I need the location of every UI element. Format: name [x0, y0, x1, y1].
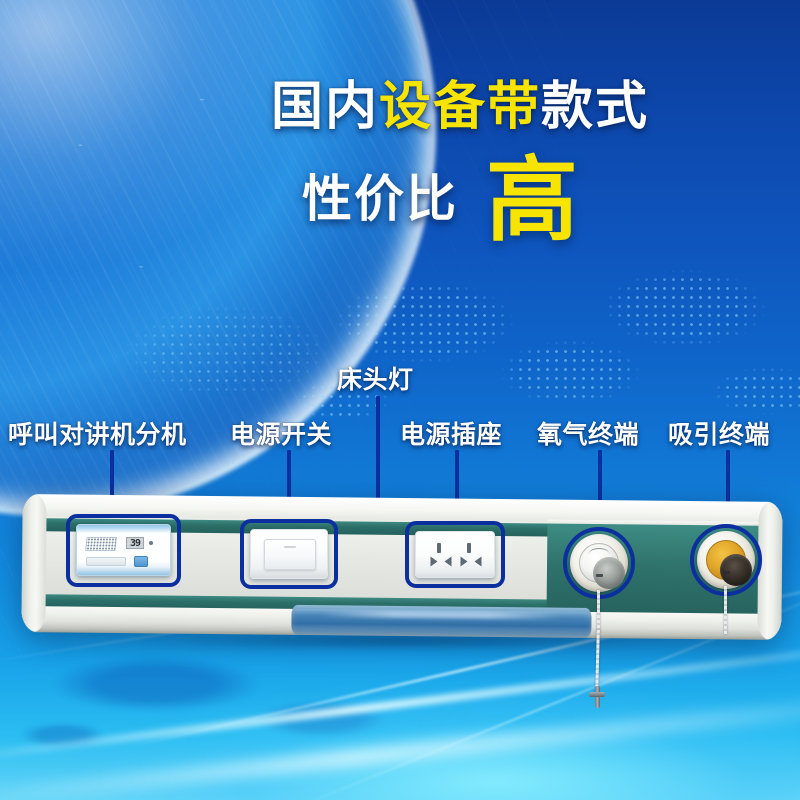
callout-label-socket: 电源插座 [400, 415, 502, 451]
pull-cord-handle[interactable] [589, 686, 605, 708]
annotation-box-power-switch [240, 519, 338, 589]
annotation-box-intercom [66, 514, 181, 587]
annotation-box-socket [405, 521, 505, 588]
annotation-ring-oxygen [563, 527, 635, 599]
panel-end-cap-right [757, 502, 782, 640]
callout-label-suction: 吸引终端 [668, 415, 770, 451]
callout-label-intercom: 呼叫对讲机分机 [8, 415, 187, 451]
callout-label-bed-lamp: 床头灯 [337, 360, 414, 396]
callout-label-power-switch: 电源开关 [230, 415, 332, 451]
banner-canvas: 国内设备带款式 性价比 高 呼叫对讲机分机 电源开关 床头灯 电源插座 氧气终端… [0, 0, 800, 800]
suction-hose-cord [724, 586, 727, 634]
panel-end-cap-left [21, 494, 46, 632]
callout-label-oxygen: 氧气终端 [537, 415, 639, 451]
oxygen-hose-cord [597, 590, 600, 632]
callout-layer: 呼叫对讲机分机 电源开关 床头灯 电源插座 氧气终端 吸引终端 [0, 0, 800, 800]
